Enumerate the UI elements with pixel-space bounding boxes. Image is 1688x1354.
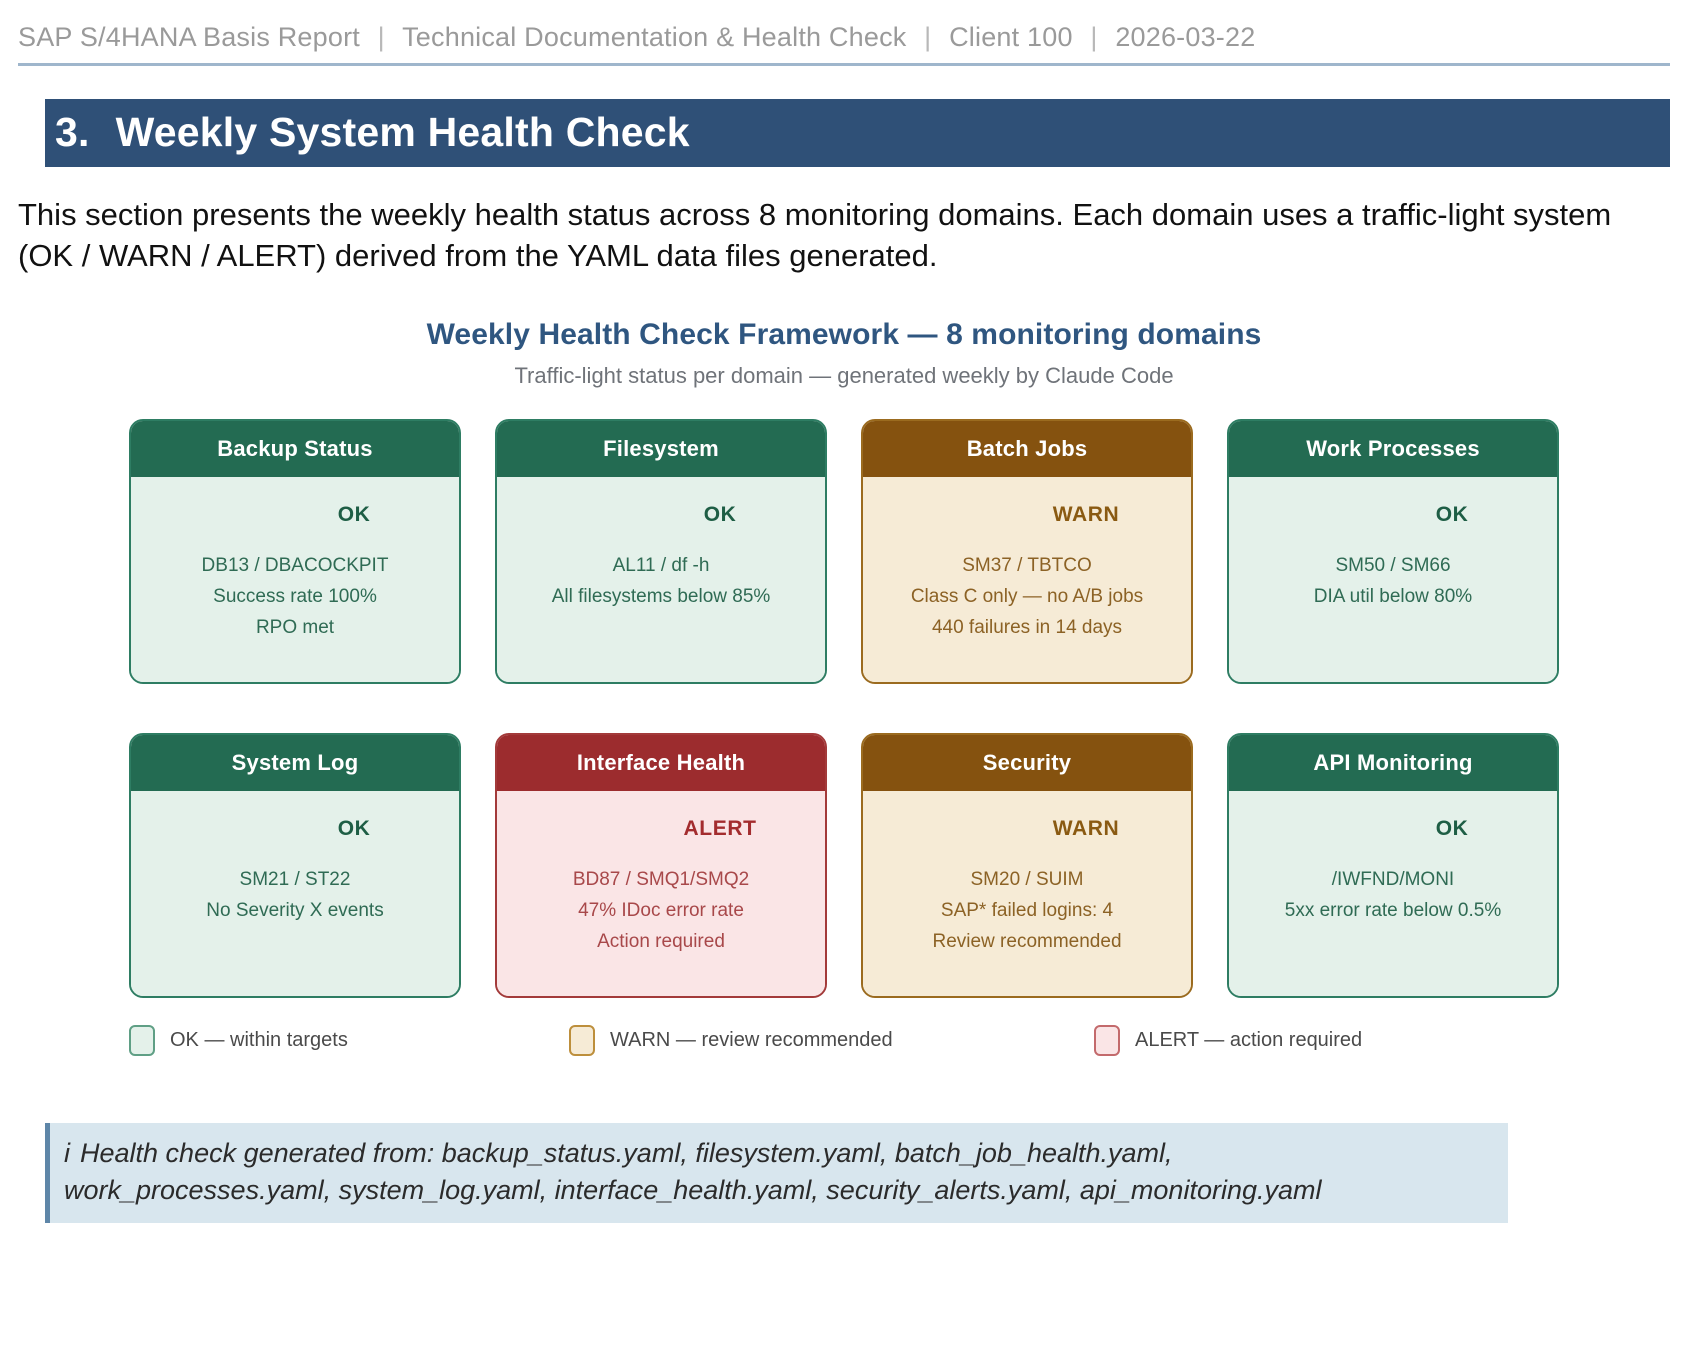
card-header: Backup Status <box>131 421 459 477</box>
health-check-figure: Weekly Health Check Framework — 8 monito… <box>0 318 1688 1056</box>
card-transactions: BD87 / SMQ1/SMQ2 <box>497 865 825 896</box>
status-badge: OK <box>1347 817 1557 841</box>
card-header: Batch Jobs <box>863 421 1191 477</box>
page-running-header: SAP S/4HANA Basis Report | Technical Doc… <box>18 22 1670 66</box>
card-detail-1: All filesystems below 85% <box>497 582 825 613</box>
card-body: ALERT BD87 / SMQ1/SMQ2 47% IDoc error ra… <box>497 791 825 996</box>
header-separator-3: | <box>1080 22 1107 52</box>
legend-label-warn: WARN — review recommended <box>610 1029 893 1052</box>
card-detail-lines: BD87 / SMQ1/SMQ2 47% IDoc error rate Act… <box>497 865 825 958</box>
legend-label-ok: OK — within targets <box>170 1029 348 1052</box>
domain-card-work-processes[interactable]: Work Processes OK SM50 / SM66 DIA util b… <box>1227 419 1559 684</box>
client-label: Client 100 <box>949 22 1073 52</box>
domain-card-batch-jobs[interactable]: Batch Jobs WARN SM37 / TBTCO Class C onl… <box>861 419 1193 684</box>
status-badge: OK <box>249 503 459 527</box>
intro-paragraph: This section presents the weekly health … <box>18 194 1668 276</box>
info-icon: i <box>64 1138 70 1168</box>
domain-card-interface-health[interactable]: Interface Health ALERT BD87 / SMQ1/SMQ2 … <box>495 733 827 998</box>
card-detail-1: 47% IDoc error rate <box>497 896 825 927</box>
card-body: OK AL11 / df -h All filesystems below 85… <box>497 477 825 682</box>
status-legend: OK — within targets WARN — review recomm… <box>129 1025 1559 1056</box>
card-detail-lines: SM21 / ST22 No Severity X events <box>131 865 459 927</box>
legend-item-alert: ALERT — action required <box>1094 1025 1362 1056</box>
card-detail-1: SAP* failed logins: 4 <box>863 896 1191 927</box>
legend-swatch-alert-icon <box>1094 1025 1120 1056</box>
card-detail-lines: AL11 / df -h All filesystems below 85% <box>497 551 825 613</box>
card-transactions: SM37 / TBTCO <box>863 551 1191 582</box>
card-transactions: AL11 / df -h <box>497 551 825 582</box>
card-header: Filesystem <box>497 421 825 477</box>
card-transactions: SM21 / ST22 <box>131 865 459 896</box>
card-body: WARN SM37 / TBTCO Class C only — no A/B … <box>863 477 1191 682</box>
card-header: Interface Health <box>497 735 825 791</box>
card-detail-1: 5xx error rate below 0.5% <box>1229 896 1557 927</box>
status-badge: OK <box>1347 503 1557 527</box>
note-line-2: work_processes.yaml, system_log.yaml, in… <box>64 1172 1494 1209</box>
card-transactions: SM20 / SUIM <box>863 865 1191 896</box>
card-body: WARN SM20 / SUIM SAP* failed logins: 4 R… <box>863 791 1191 996</box>
report-title: SAP S/4HANA Basis Report <box>18 22 360 52</box>
card-detail-lines: SM37 / TBTCO Class C only — no A/B jobs … <box>863 551 1191 644</box>
domain-card-backup-status[interactable]: Backup Status OK DB13 / DBACOCKPIT Succe… <box>129 419 461 684</box>
legend-item-ok: OK — within targets <box>129 1025 569 1056</box>
note-line-1: Health check generated from: backup_stat… <box>80 1138 1173 1168</box>
report-date: 2026-03-22 <box>1115 22 1255 52</box>
figure-subtitle: Traffic-light status per domain — genera… <box>0 363 1688 389</box>
card-header: Security <box>863 735 1191 791</box>
section-number: 3. <box>55 109 90 155</box>
card-transactions: DB13 / DBACOCKPIT <box>131 551 459 582</box>
page-title: Weekly System Health Check <box>116 109 690 155</box>
card-header: API Monitoring <box>1229 735 1557 791</box>
card-detail-lines: SM20 / SUIM SAP* failed logins: 4 Review… <box>863 865 1191 958</box>
card-body: OK SM50 / SM66 DIA util below 80% <box>1229 477 1557 682</box>
status-badge: WARN <box>981 817 1191 841</box>
card-transactions: /IWFND/MONI <box>1229 865 1557 896</box>
status-badge: OK <box>249 817 459 841</box>
domain-card-filesystem[interactable]: Filesystem OK AL11 / df -h All filesyste… <box>495 419 827 684</box>
card-detail-2: Review recommended <box>863 927 1191 958</box>
legend-label-alert: ALERT — action required <box>1135 1029 1362 1052</box>
doc-type: Technical Documentation & Health Check <box>402 22 906 52</box>
domain-card-api-monitoring[interactable]: API Monitoring OK /IWFND/MONI 5xx error … <box>1227 733 1559 998</box>
card-body: OK SM21 / ST22 No Severity X events <box>131 791 459 996</box>
status-badge: ALERT <box>615 817 825 841</box>
domain-card-grid: Backup Status OK DB13 / DBACOCKPIT Succe… <box>129 419 1559 998</box>
card-header: Work Processes <box>1229 421 1557 477</box>
status-badge: WARN <box>981 503 1191 527</box>
card-detail-2: 440 failures in 14 days <box>863 613 1191 644</box>
card-detail-1: No Severity X events <box>131 896 459 927</box>
legend-swatch-warn-icon <box>569 1025 595 1056</box>
source-note-box: iHealth check generated from: backup_sta… <box>45 1123 1508 1222</box>
card-body: OK /IWFND/MONI 5xx error rate below 0.5% <box>1229 791 1557 996</box>
status-badge: OK <box>615 503 825 527</box>
legend-item-warn: WARN — review recommended <box>569 1025 1094 1056</box>
card-detail-1: Class C only — no A/B jobs <box>863 582 1191 613</box>
card-header: System Log <box>131 735 459 791</box>
figure-title: Weekly Health Check Framework — 8 monito… <box>0 318 1688 352</box>
section-title-bar: 3.Weekly System Health Check <box>45 99 1670 167</box>
card-detail-1: Success rate 100% <box>131 582 459 613</box>
card-detail-lines: SM50 / SM66 DIA util below 80% <box>1229 551 1557 613</box>
card-detail-2: RPO met <box>131 613 459 644</box>
card-detail-1: DIA util below 80% <box>1229 582 1557 613</box>
domain-card-security[interactable]: Security WARN SM20 / SUIM SAP* failed lo… <box>861 733 1193 998</box>
card-detail-lines: /IWFND/MONI 5xx error rate below 0.5% <box>1229 865 1557 927</box>
legend-swatch-ok-icon <box>129 1025 155 1056</box>
header-separator-2: | <box>914 22 941 52</box>
card-detail-2: Action required <box>497 927 825 958</box>
card-transactions: SM50 / SM66 <box>1229 551 1557 582</box>
domain-card-system-log[interactable]: System Log OK SM21 / ST22 No Severity X … <box>129 733 461 998</box>
card-body: OK DB13 / DBACOCKPIT Success rate 100% R… <box>131 477 459 682</box>
card-detail-lines: DB13 / DBACOCKPIT Success rate 100% RPO … <box>131 551 459 644</box>
header-separator-1: | <box>368 22 395 52</box>
